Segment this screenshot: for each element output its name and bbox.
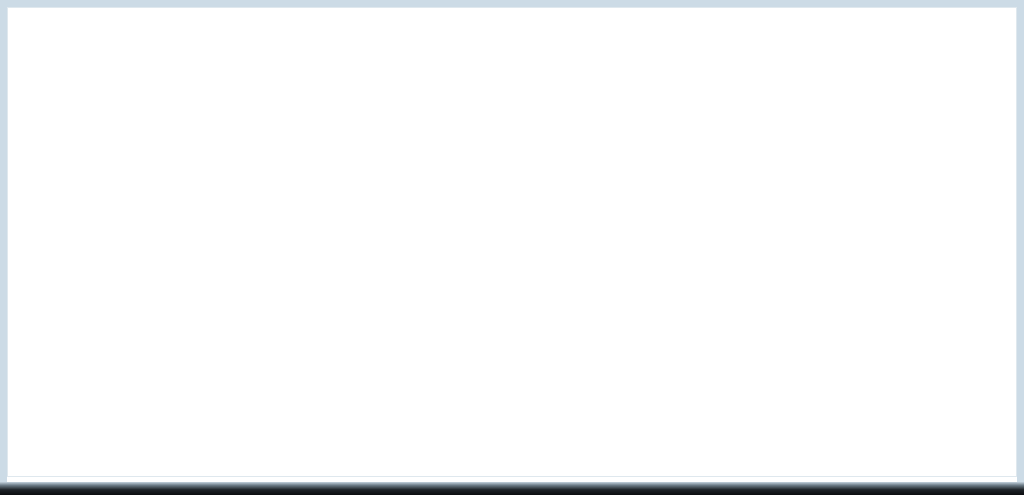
caption-line-2: broken down rendering the microbe harmle… xyxy=(70,439,541,463)
arrow-layer xyxy=(8,8,1016,477)
uv-arrow-down-left xyxy=(726,80,774,216)
caption: The molecular structure of the DNA isbro… xyxy=(70,408,541,465)
microbe-arrow-top xyxy=(192,120,220,260)
caption-line-1: The molecular structure of the DNA is xyxy=(70,410,459,434)
illustration-area: Viruses xyxy=(8,8,1016,477)
dna-label: DNA xyxy=(739,322,803,355)
ultraviolet-light-label: Ultraviolet Light xyxy=(690,30,891,60)
uv-arrow-up xyxy=(820,287,868,394)
microbe-arrow-upper-left xyxy=(94,204,204,260)
bottom-shadow-strip xyxy=(0,482,1024,495)
diagram-canvas: Viruses xyxy=(0,0,1024,495)
uv-arrow-down-right xyxy=(814,93,854,217)
microbe-label: Microbe xyxy=(307,337,424,372)
